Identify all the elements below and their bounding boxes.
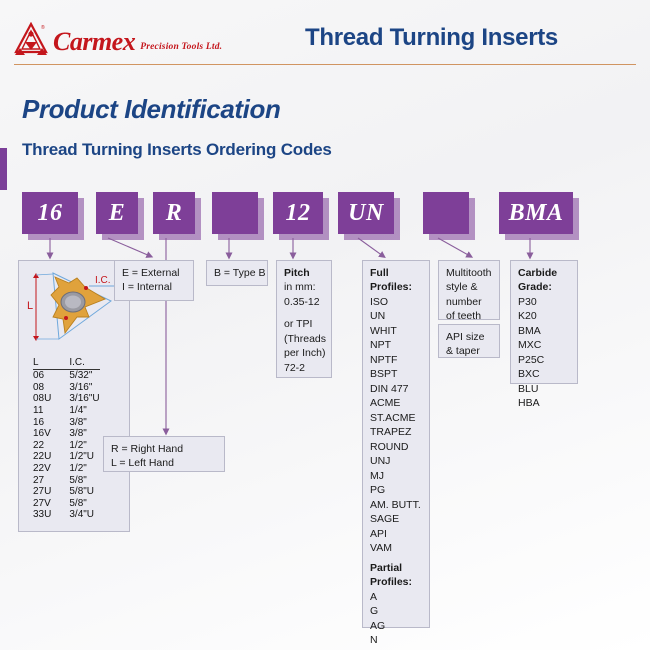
brand-tagline: Precision Tools Ltd. xyxy=(140,43,222,53)
grade-item: BXC xyxy=(518,367,570,381)
profile-item: A xyxy=(370,590,422,604)
panel-insert-type: B = Type B xyxy=(206,260,268,286)
table-cell: 3/8" xyxy=(51,416,99,428)
triangle-emblem-icon: ® xyxy=(14,22,48,56)
table-cell: 22V xyxy=(33,463,51,475)
table-cell: 27 xyxy=(33,474,51,486)
table-cell: 08 xyxy=(33,382,51,394)
profile-item: N xyxy=(370,633,422,647)
table-row: 111/4" xyxy=(33,405,100,417)
table-cell: 27V xyxy=(33,498,51,510)
table-row: 221/2" xyxy=(33,440,100,452)
carbide-grade-list: P30K20BMAMXCP25CBXCBLUHBA xyxy=(518,295,570,411)
profile-item: AG xyxy=(370,619,422,633)
panel-hand-direction: R = Right Hand L = Left Hand xyxy=(103,436,225,472)
panel-line: style & xyxy=(446,280,492,294)
profile-item: NPTF xyxy=(370,353,422,367)
profile-item: BSPT xyxy=(370,367,422,381)
panel-line: in mm: xyxy=(284,280,324,294)
grade-item: BMA xyxy=(518,324,570,338)
grade-item: K20 xyxy=(518,309,570,323)
profile-item: WHIT xyxy=(370,324,422,338)
panel-heading: Profiles: xyxy=(370,280,422,294)
panel-line: R = Right Hand xyxy=(111,442,217,456)
profile-item: ST.ACME xyxy=(370,411,422,425)
table-cell: 1/2" xyxy=(51,440,99,452)
profile-item: SAGE xyxy=(370,512,422,526)
page-title: Thread Turning Inserts xyxy=(305,24,558,52)
brand-name: Carmex xyxy=(53,29,135,55)
table-row: 163/8" xyxy=(33,416,100,428)
table-cell: 5/8" xyxy=(51,474,99,486)
panel-line: per Inch) xyxy=(284,346,324,360)
panel-line: or TPI xyxy=(284,317,324,331)
code-box-16[interactable]: 16 xyxy=(22,192,78,234)
panel-line: L = Left Hand xyxy=(111,456,217,470)
panel-heading: Partial xyxy=(370,561,422,575)
table-cell: 1/2" xyxy=(51,463,99,475)
code-box-e[interactable]: E xyxy=(96,192,138,234)
table-cell: 27U xyxy=(33,486,51,498)
panel-line: Multitooth xyxy=(446,266,492,280)
table-cell: 5/8" xyxy=(51,498,99,510)
profile-item: ISO xyxy=(370,295,422,309)
table-row: 33U3/4"U xyxy=(33,509,100,521)
profile-item: NPT xyxy=(370,338,422,352)
profile-item: PG xyxy=(370,483,422,497)
panel-line: 0.35-12 xyxy=(284,295,324,309)
table-row: 16V3/8" xyxy=(33,428,100,440)
panel-api-size: API size & taper xyxy=(438,324,500,358)
table-row: 27U5/8"U xyxy=(33,486,100,498)
table-cell: 5/8"U xyxy=(51,486,99,498)
profile-item: UNJ xyxy=(370,454,422,468)
table-cell: 22 xyxy=(33,440,51,452)
table-cell: 1/4" xyxy=(51,405,99,417)
panel-heading: Full xyxy=(370,266,422,280)
panel-line: 72-2 xyxy=(284,361,324,375)
table-row: 22V1/2" xyxy=(33,463,100,475)
table-row: 065/32" xyxy=(33,370,100,382)
svg-text:®: ® xyxy=(41,24,45,31)
grade-item: P25C xyxy=(518,353,570,367)
profile-item: MJ xyxy=(370,469,422,483)
table-cell: 1/2"U xyxy=(51,451,99,463)
column-header: L xyxy=(33,357,51,370)
code-box-r[interactable]: R xyxy=(153,192,195,234)
table-cell: 16V xyxy=(33,428,51,440)
table-cell: 16 xyxy=(33,416,51,428)
table-cell: 33U xyxy=(33,509,51,521)
table-cell: 06 xyxy=(33,370,51,382)
profile-item: AM. BUTT. xyxy=(370,498,422,512)
panel-line: (Threads xyxy=(284,332,324,346)
panel-heading: Pitch xyxy=(284,266,324,280)
panel-line: & taper xyxy=(446,344,492,358)
table-cell: 3/4"U xyxy=(51,509,99,521)
grade-item: MXC xyxy=(518,338,570,352)
profile-item: G xyxy=(370,604,422,618)
table-cell: 22U xyxy=(33,451,51,463)
svg-text:I.C.: I.C. xyxy=(95,275,111,286)
table-body: 065/32"083/16"08U3/16"U111/4"163/8"16V3/… xyxy=(33,370,100,521)
panel-heading: Carbide xyxy=(518,266,570,280)
header-divider xyxy=(14,64,636,65)
table-cell: 5/32" xyxy=(51,370,99,382)
table-row: 275/8" xyxy=(33,474,100,486)
table-row: 08U3/16"U xyxy=(33,393,100,405)
grade-item: P30 xyxy=(518,295,570,309)
grade-item: HBA xyxy=(518,396,570,410)
panel-line: I = Internal xyxy=(122,280,186,294)
panel-line: E = External xyxy=(122,266,186,280)
grade-item: BLU xyxy=(518,382,570,396)
panel-profiles: Full Profiles: ISOUNWHITNPTNPTFBSPTDIN 4… xyxy=(362,260,430,628)
code-box-blank-3[interactable] xyxy=(212,192,258,234)
table-cell: 08U xyxy=(33,393,51,405)
table-cell: 11 xyxy=(33,405,51,417)
column-header: I.C. xyxy=(51,357,99,370)
left-accent-bar xyxy=(0,148,7,190)
panel-line: of teeth xyxy=(446,309,492,323)
table-cell: 3/16"U xyxy=(51,393,99,405)
page-root: ® Carmex Precision Tools Ltd. Thread Tur… xyxy=(0,0,650,650)
code-box-blank-6[interactable] xyxy=(423,192,469,234)
panel-multitooth: Multitooth style & number of teeth xyxy=(438,260,500,320)
profile-item: VAM xyxy=(370,541,422,555)
panel-line: number xyxy=(446,295,492,309)
partial-profiles-list: AGAGNQU xyxy=(370,590,422,650)
table-row: 22U1/2"U xyxy=(33,451,100,463)
section-title: Product Identification xyxy=(22,94,280,125)
table-header-row: LI.C. xyxy=(33,357,100,370)
panel-pitch: Pitch in mm: 0.35-12 or TPI (Threads per… xyxy=(276,260,332,378)
code-box-12[interactable]: 12 xyxy=(273,192,323,234)
table-cell: 3/16" xyxy=(51,382,99,394)
panel-line: B = Type B xyxy=(214,266,260,280)
panel-carbide-grade: Carbide Grade: P30K20BMAMXCP25CBXCBLUHBA xyxy=(510,260,578,384)
panel-external-internal: E = External I = Internal xyxy=(114,260,194,301)
profile-item: API xyxy=(370,527,422,541)
profile-item: TRAPEZ xyxy=(370,425,422,439)
panel-line: API size xyxy=(446,330,492,344)
table-row: 27V5/8" xyxy=(33,498,100,510)
profile-item: DIN 477 xyxy=(370,382,422,396)
profile-item: UN xyxy=(370,309,422,323)
company-logo: ® Carmex Precision Tools Ltd. xyxy=(14,22,222,56)
full-profiles-list: ISOUNWHITNPTNPTFBSPTDIN 477ACMEST.ACMETR… xyxy=(370,295,422,556)
profile-item: ROUND xyxy=(370,440,422,454)
code-box-bma[interactable]: BMA xyxy=(499,192,573,234)
panel-heading: Grade: xyxy=(518,280,570,294)
code-box-un[interactable]: UN xyxy=(338,192,394,234)
section-subtitle: Thread Turning Inserts Ordering Codes xyxy=(22,140,332,160)
table-cell: 3/8" xyxy=(51,428,99,440)
table-row: 083/16" xyxy=(33,382,100,394)
svg-text:L: L xyxy=(27,300,33,312)
page-header: ® Carmex Precision Tools Ltd. Thread Tur… xyxy=(0,0,650,72)
profile-item: ACME xyxy=(370,396,422,410)
panel-heading: Profiles: xyxy=(370,575,422,589)
